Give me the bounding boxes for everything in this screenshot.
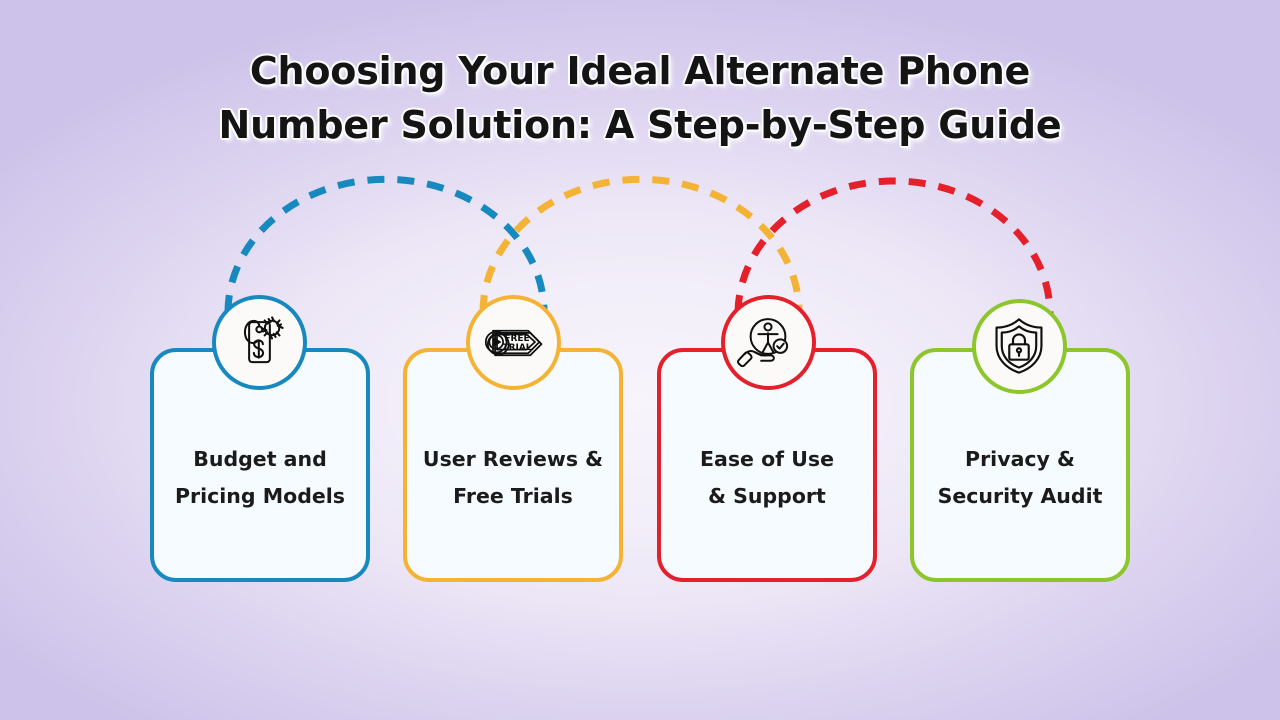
step-card-label: Privacy & Security Audit bbox=[938, 441, 1103, 515]
step-icon-circle-budget[interactable] bbox=[212, 295, 307, 390]
free-trial-badge-icon: FREE TRIAL bbox=[481, 317, 545, 367]
step-icon-circle-ease-of-use[interactable] bbox=[721, 295, 816, 390]
free-trial-text-line-2: TRIAL bbox=[503, 343, 532, 353]
connector-3-to-4 bbox=[738, 181, 1050, 316]
infographic-canvas: Choosing Your Ideal Alternate Phone Numb… bbox=[0, 0, 1280, 720]
shield-lock-icon bbox=[990, 316, 1048, 376]
price-tag-gear-dollar-icon bbox=[228, 311, 290, 373]
hand-holding-accessibility-person-icon bbox=[736, 313, 800, 371]
connector-2-to-3 bbox=[483, 179, 799, 312]
step-icon-circle-free-trial[interactable]: FREE TRIAL bbox=[466, 295, 561, 390]
step-card-label: User Reviews & Free Trials bbox=[423, 441, 603, 515]
connector-1-to-2 bbox=[228, 179, 544, 312]
step-card-label: Ease of Use & Support bbox=[700, 441, 834, 515]
step-icon-circle-privacy-security[interactable] bbox=[972, 299, 1067, 394]
step-card-label: Budget and Pricing Models bbox=[175, 441, 345, 515]
